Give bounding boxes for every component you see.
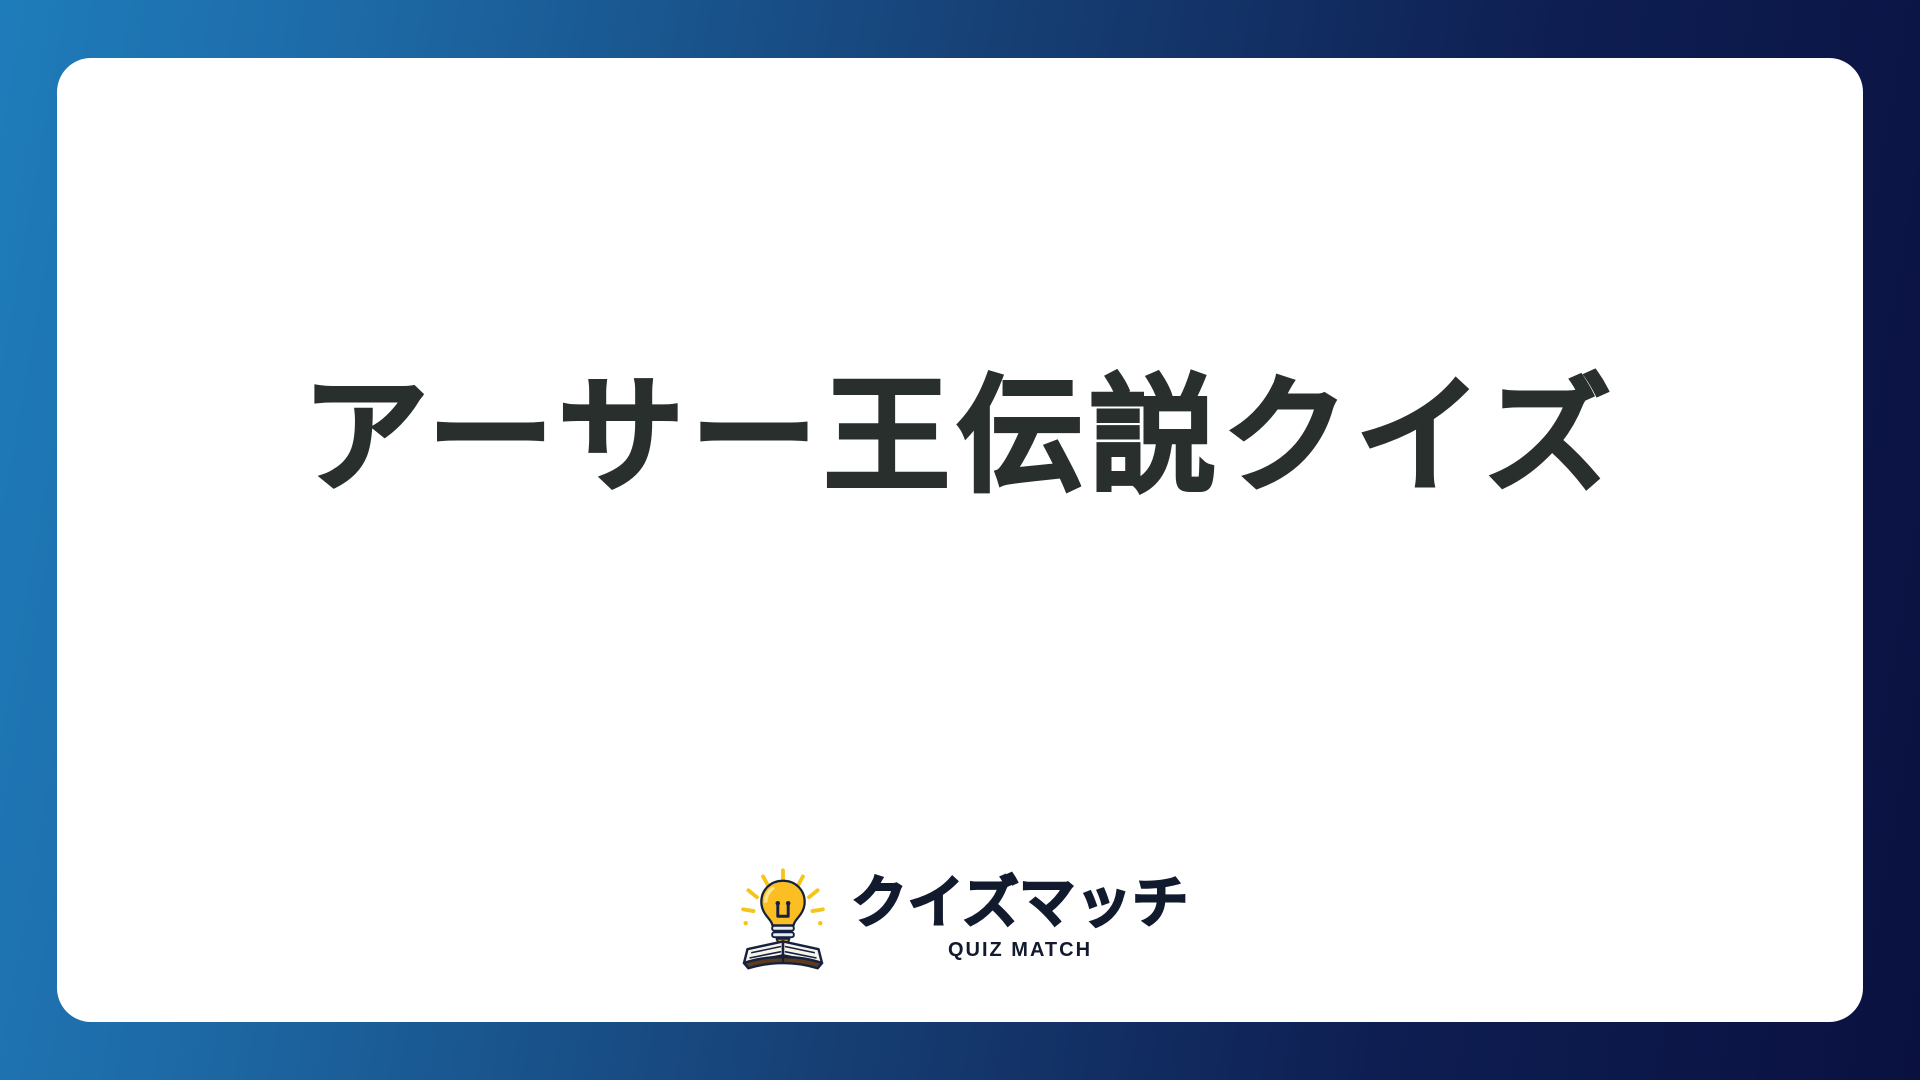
lightbulb-over-open-book-icon bbox=[731, 866, 835, 970]
brand-logo: クイズマッチ QUIZ MATCH bbox=[57, 866, 1863, 970]
page-title: アーサー王伝説クイズ bbox=[302, 358, 1617, 516]
logo-wordmark: クイズマッチ bbox=[851, 876, 1189, 932]
title-container: アーサー王伝説クイズ bbox=[57, 358, 1863, 516]
content-card: アーサー王伝説クイズ bbox=[57, 58, 1863, 1022]
logo-subwordmark: QUIZ MATCH bbox=[948, 940, 1092, 960]
slide-root: アーサー王伝説クイズ bbox=[0, 0, 1920, 1080]
logo-text: クイズマッチ QUIZ MATCH bbox=[851, 876, 1189, 960]
